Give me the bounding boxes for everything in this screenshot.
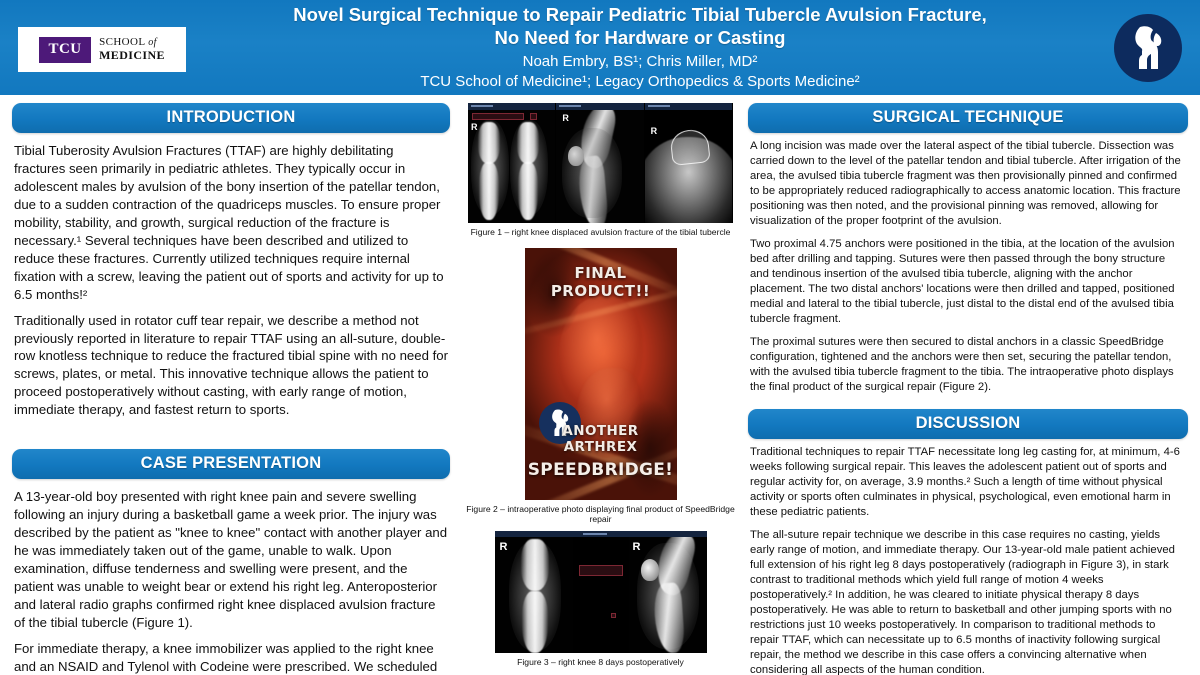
section-heading-surgical-technique: SURGICAL TECHNIQUE	[748, 103, 1188, 133]
left-column-spacer	[12, 427, 450, 449]
case-presentation-body: A 13-year-old boy presented with right k…	[12, 479, 450, 675]
poster-header: TCU SCHOOL of MEDICINE Novel Surgical Te…	[0, 0, 1200, 97]
affiliation-list: TCU School of Medicine¹; Legacy Orthoped…	[195, 72, 1085, 92]
figure-2-overlay-top: FINAL PRODUCT!!	[525, 264, 677, 300]
header-text-block: Novel Surgical Technique to Repair Pedia…	[195, 4, 1085, 91]
laterality-marker-right: R	[633, 541, 641, 553]
introduction-paragraph-2: Traditionally used in rotator cuff tear …	[14, 312, 448, 420]
section-heading-discussion: DISCUSSION	[748, 409, 1188, 439]
page-title: Novel Surgical Technique to Repair Pedia…	[195, 4, 1085, 49]
discussion-body: Traditional techniques to repair TTAF ne…	[748, 439, 1188, 675]
viewer-annotation-square	[530, 113, 537, 120]
figure-2-overlay-bottom-1: ANOTHER ARTHREX	[525, 423, 677, 455]
figure-3-pane-lateral: R	[629, 537, 707, 653]
surgical-technique-body: A long incision was made over the latera…	[748, 133, 1188, 395]
viewer-toolbar-cell	[468, 103, 556, 110]
figure-1-panes: R R	[468, 110, 733, 223]
figure-3-image: R R	[495, 531, 707, 653]
knee-joint-icon	[1114, 14, 1182, 82]
laterality-marker-right: R	[562, 113, 569, 123]
viewer-label-tick	[648, 105, 670, 107]
figure-1-pane-lateral: R	[556, 110, 644, 223]
figure-1: R R	[458, 103, 743, 238]
page-title-line1: Novel Surgical Technique to Repair Pedia…	[195, 4, 1085, 27]
discussion-paragraph-2: The all-suture repair technique we descr…	[750, 528, 1186, 675]
right-column: SURGICAL TECHNIQUE A long incision was m…	[748, 103, 1188, 675]
center-figure-column: R R	[458, 103, 743, 668]
case-presentation-paragraph-2: For immediate therapy, a knee immobilize…	[14, 640, 448, 675]
surgical-technique-paragraph-3: The proximal sutures were then secured t…	[750, 335, 1186, 395]
surgical-technique-paragraph-2: Two proximal 4.75 anchors were positione…	[750, 237, 1186, 327]
introduction-paragraph-1: Tibial Tuberosity Avulsion Fractures (TT…	[14, 142, 448, 304]
figure-2: FINAL PRODUCT!! ANOTHER ARTHREX SPEEDBRI…	[458, 248, 743, 525]
figure-1-pane-magnified: R	[645, 110, 733, 223]
laterality-marker-right: R	[651, 126, 658, 136]
tcu-logo-text: SCHOOL of MEDICINE	[99, 37, 165, 61]
figure-2-overlay-bottom-2: SPEEDBRIDGE!	[525, 460, 677, 480]
figure-1-viewer-toolbar	[468, 103, 733, 110]
laterality-marker-right: R	[500, 541, 508, 553]
section-heading-case-presentation: CASE PRESENTATION	[12, 449, 450, 479]
introduction-body: Tibial Tuberosity Avulsion Fractures (TT…	[12, 133, 450, 419]
section-heading-introduction: INTRODUCTION	[12, 103, 450, 133]
viewer-annotation-square	[611, 613, 616, 618]
tcu-school-of-medicine-logo: TCU SCHOOL of MEDICINE	[18, 27, 186, 72]
viewer-annotation-box	[579, 565, 623, 576]
author-list: Noah Embry, BS¹; Chris Miller, MD²	[195, 52, 1085, 72]
figure-1-image: R R	[468, 103, 733, 223]
figure-3-pane-ap: R	[495, 537, 573, 653]
viewer-toolbar-cell	[645, 103, 733, 110]
figure-3-panes: R R	[495, 537, 707, 653]
surgical-technique-paragraph-1: A long incision was made over the latera…	[750, 139, 1186, 229]
figure-1-caption: Figure 1 – right knee displaced avulsion…	[458, 223, 743, 238]
figure-3: R R	[458, 531, 743, 668]
figure-2-image: FINAL PRODUCT!! ANOTHER ARTHREX SPEEDBRI…	[525, 248, 677, 500]
viewer-label-tick	[559, 105, 581, 107]
figure-2-caption: Figure 2 – intraoperative photo displayi…	[458, 500, 743, 525]
tcu-wordmark: TCU	[39, 37, 91, 63]
tcu-logo-of: of	[148, 37, 157, 48]
poster-canvas: TCU SCHOOL of MEDICINE Novel Surgical Te…	[0, 0, 1200, 675]
tcu-logo-school: SCHOOL	[99, 36, 145, 48]
viewer-label-tick	[471, 105, 493, 107]
figure-3-pane-divider	[573, 537, 629, 653]
figure-1-pane-ap: R	[468, 110, 556, 223]
left-column: INTRODUCTION Tibial Tuberosity Avulsion …	[12, 103, 450, 675]
figure-spacer	[458, 238, 743, 248]
figure-3-caption: Figure 3 – right knee 8 days postoperati…	[458, 653, 743, 668]
laterality-marker-right: R	[471, 122, 478, 132]
viewer-toolbar-cell	[556, 103, 644, 110]
discussion-paragraph-1: Traditional techniques to repair TTAF ne…	[750, 445, 1186, 520]
case-presentation-paragraph-1: A 13-year-old boy presented with right k…	[14, 488, 448, 632]
viewer-annotation-box	[472, 113, 524, 120]
viewer-label-tick	[583, 533, 607, 535]
page-title-line2: No Need for Hardware or Casting	[195, 27, 1085, 50]
tcu-logo-line2: MEDICINE	[99, 49, 165, 62]
